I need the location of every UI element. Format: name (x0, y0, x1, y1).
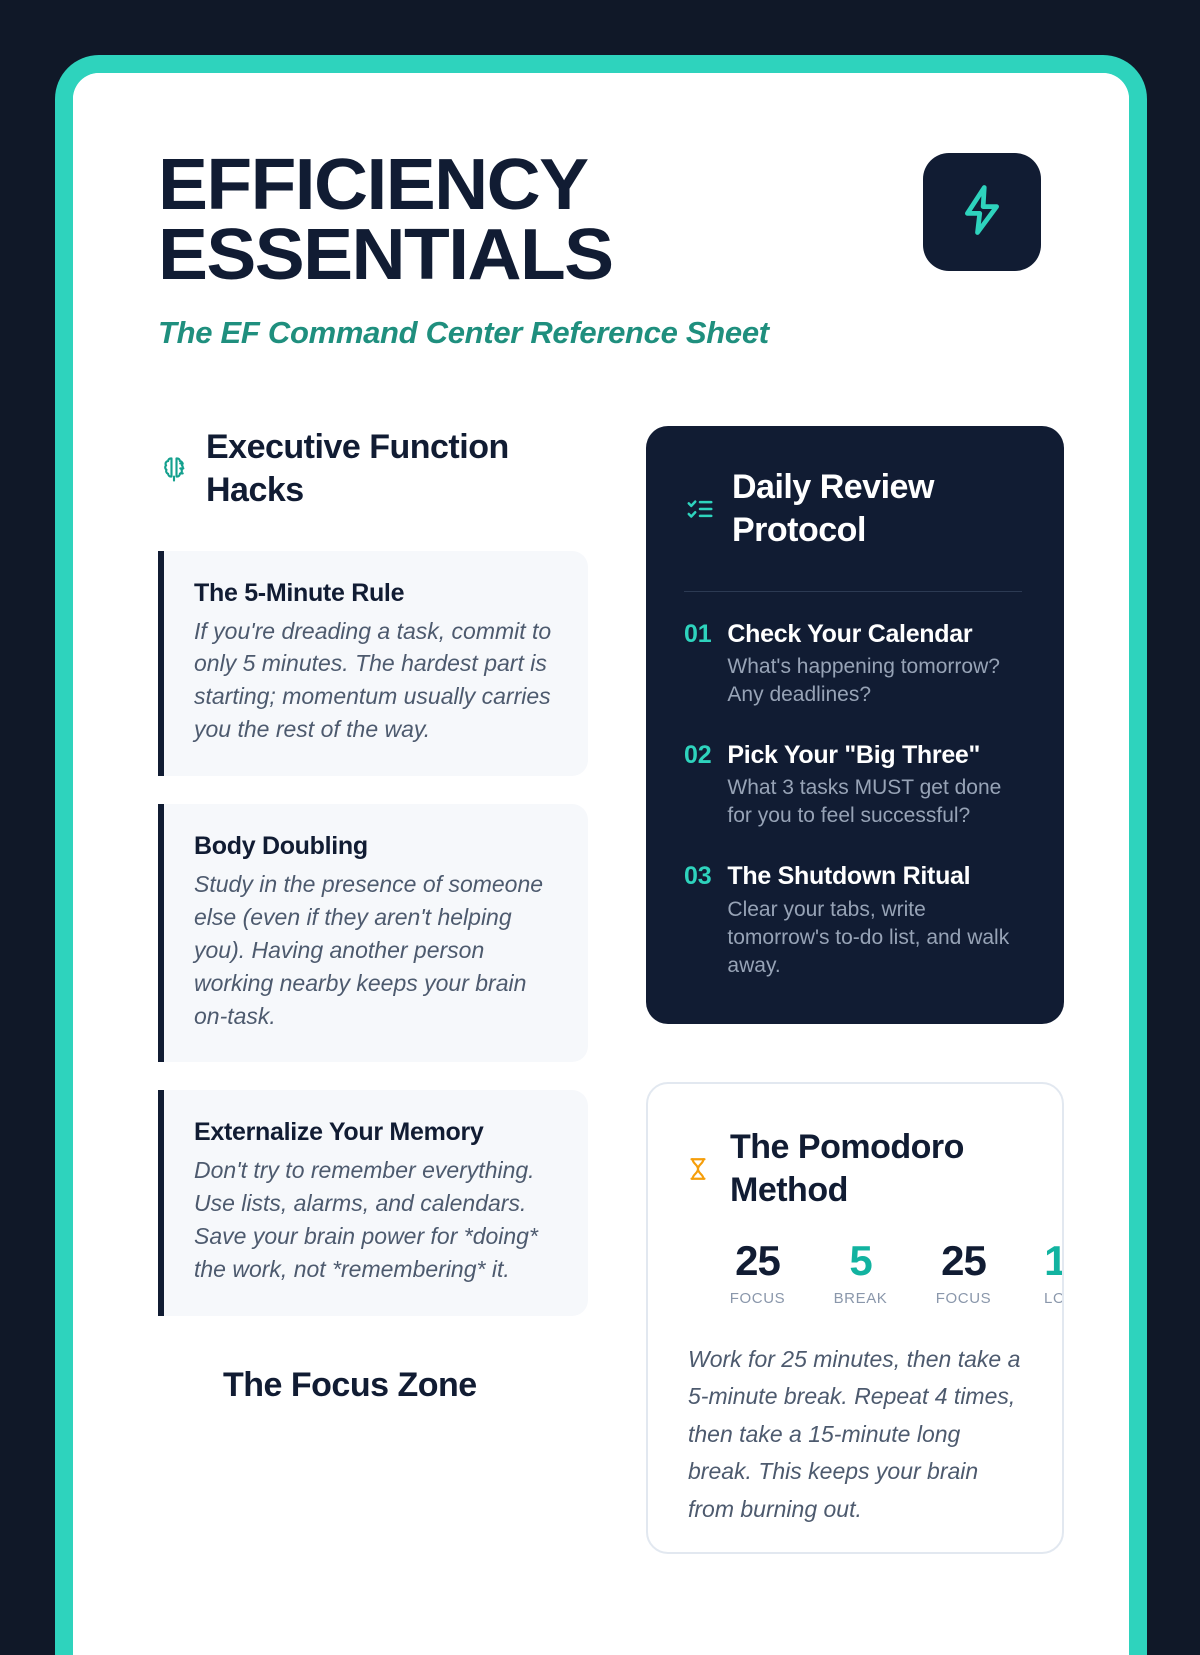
tip-card-body: Study in the presence of someone else (e… (194, 868, 558, 1032)
protocol-heading-label: Daily Review Protocol (732, 466, 1022, 553)
protocol-step: 01 Check Your Calendar What's happening … (684, 618, 1022, 709)
step-description: Clear your tabs, write tomorrow's to-do … (727, 896, 1022, 980)
protocol-step: 02 Pick Your "Big Three" What 3 tasks MU… (684, 739, 1022, 830)
timer-label: FOCUS (706, 1290, 809, 1307)
logo-badge (923, 153, 1041, 271)
step-title: Check Your Calendar (727, 618, 1022, 651)
tip-card-title: Body Doubling (194, 830, 558, 862)
pomodoro-timer-row: 25 FOCUS 5 BREAK 25 FOCUS 15 (648, 1239, 1064, 1307)
timer-cell: 25 FOCUS (912, 1239, 1015, 1307)
content-columns: Executive Function Hacks The 5-Minute Ru… (73, 426, 1129, 1554)
panel-divider (684, 591, 1022, 592)
tip-card-body: Don't try to remember everything. Use li… (194, 1154, 558, 1286)
tip-card-title: Externalize Your Memory (194, 1116, 558, 1148)
step-number: 01 (684, 618, 711, 709)
step-description: What's happening tomorrow? Any deadlines… (727, 653, 1022, 709)
timer-cell: 25 FOCUS (706, 1239, 809, 1307)
step-title: The Shutdown Ritual (727, 860, 1022, 893)
step-number: 02 (684, 739, 711, 830)
step-number: 03 (684, 860, 711, 979)
pomodoro-description: Work for 25 minutes, then take a 5-minut… (648, 1341, 1062, 1528)
list-checks-icon (684, 493, 716, 525)
timer-cell: 5 BREAK (809, 1239, 912, 1307)
timer-label: BREAK (809, 1290, 912, 1307)
header: Efficiency Essentials The EF Command Cen… (73, 73, 1129, 354)
pomodoro-heading-label: The Pomodoro Method (730, 1126, 1024, 1213)
daily-review-protocol-panel: Daily Review Protocol 01 Check Your Cale… (646, 426, 1064, 1024)
brain-icon (158, 453, 190, 485)
tip-card-body: If you're dreading a task, commit to onl… (194, 615, 558, 747)
tip-card: The 5-Minute Rule If you're dreading a t… (158, 551, 588, 777)
zap-icon (955, 183, 1009, 242)
page-title: Efficiency Essentials (158, 151, 865, 291)
pomodoro-method-card: The Pomodoro Method 25 FOCUS 5 BREAK 25 (646, 1082, 1064, 1554)
sheet-frame: Efficiency Essentials The EF Command Cen… (55, 55, 1147, 1655)
section-heading-label: Executive Function Hacks (206, 426, 588, 513)
protocol-section-header: Daily Review Protocol (684, 466, 1022, 553)
timer-label: FOCUS (912, 1290, 1015, 1307)
executive-function-section-header: Executive Function Hacks (158, 426, 588, 513)
focus-zone-section-header: The Focus Zone (158, 1366, 588, 1405)
protocol-step: 03 The Shutdown Ritual Clear your tabs, … (684, 860, 1022, 979)
timer-value: 15 (1015, 1239, 1064, 1283)
tip-card: Body Doubling Study in the presence of s… (158, 804, 588, 1062)
reference-sheet: Efficiency Essentials The EF Command Cen… (73, 73, 1129, 1618)
timer-value: 25 (706, 1239, 809, 1283)
timer-cell: 15 LONG (1015, 1239, 1064, 1307)
tip-card: Externalize Your Memory Don't try to rem… (158, 1090, 588, 1316)
pomodoro-section-header: The Pomodoro Method (648, 1126, 1062, 1213)
right-column: Daily Review Protocol 01 Check Your Cale… (646, 426, 1064, 1554)
left-column: Executive Function Hacks The 5-Minute Ru… (158, 426, 588, 1405)
step-title: Pick Your "Big Three" (727, 739, 1022, 772)
step-description: What 3 tasks MUST get done for you to fe… (727, 774, 1022, 830)
tip-card-title: The 5-Minute Rule (194, 577, 558, 609)
page-subtitle: The EF Command Center Reference Sheet (158, 313, 858, 354)
timer-value: 25 (912, 1239, 1015, 1283)
timer-value: 5 (809, 1239, 912, 1283)
hourglass-icon (682, 1153, 714, 1185)
timer-label: LONG (1015, 1290, 1064, 1307)
